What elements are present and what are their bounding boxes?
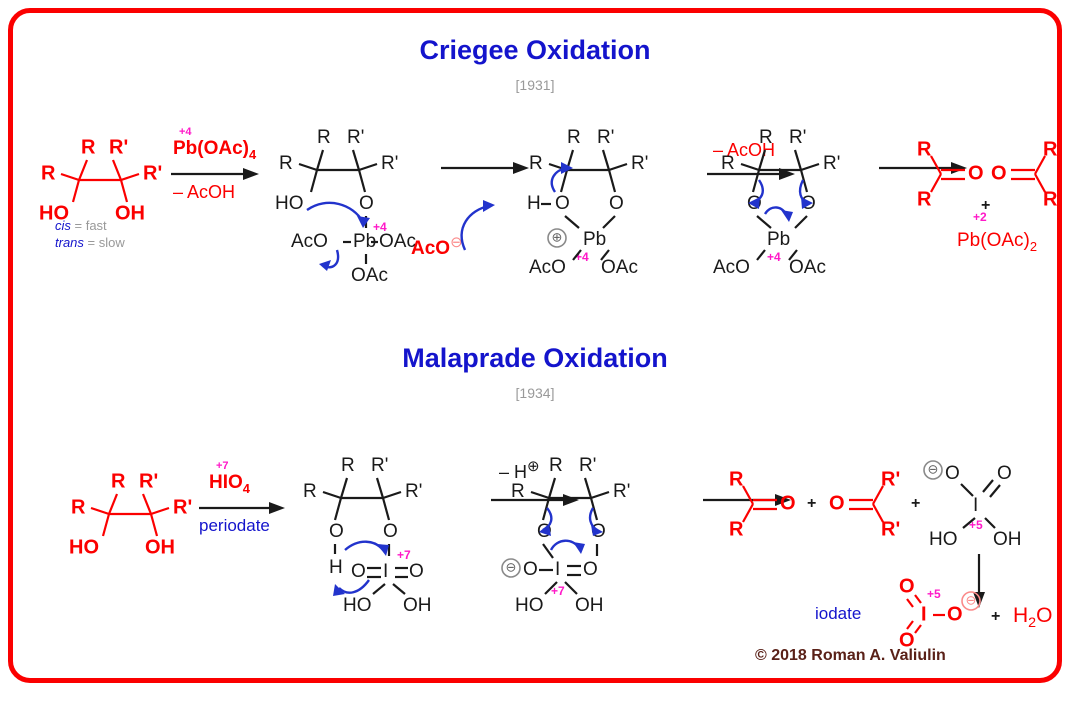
label-O: O — [359, 193, 374, 214]
metal-Pb: Pb — [767, 229, 790, 250]
ligand-O: O — [899, 575, 915, 597]
label-R: R — [721, 153, 735, 174]
note-value: = slow — [88, 235, 125, 250]
ligand-O: O — [997, 463, 1012, 484]
ligand-AcO: AcO — [713, 257, 750, 278]
ligand-OAc: OAc — [601, 257, 638, 278]
label-O: O — [780, 492, 796, 514]
criegee-reagent-label: Pb(OAc)4 — [173, 138, 256, 162]
malaprade-scheme-row: R R R' R' HO OH +7 HIO4 periodate R R R' — [13, 418, 1057, 668]
label-Rp: R' — [143, 162, 162, 184]
note-term: cis — [55, 218, 71, 233]
ligand-AcO: AcO — [529, 257, 566, 278]
label-Rp: R' — [371, 455, 388, 476]
label-R: R — [71, 496, 86, 518]
note-term: trans — [55, 235, 84, 250]
criegee-byproduct: Pb(OAc)2 — [957, 230, 1037, 254]
label-O: O — [991, 162, 1007, 184]
criegee-year: [1931] — [13, 77, 1057, 93]
label-R: R — [341, 455, 355, 476]
label-Rp: R' — [109, 136, 128, 158]
malaprade-intermediate-2: R R R' R' O O H I +7 O O HO OH — [285, 446, 485, 626]
plus-sign: + — [991, 608, 1000, 625]
positive-charge: ⊕ — [552, 229, 563, 244]
electron-flow-arrow — [443, 202, 513, 252]
criegee-reagent-oxidation-state: +4 — [179, 126, 192, 138]
label-H: H — [527, 193, 541, 214]
malaprade-reagent-label: HIO4 — [209, 472, 250, 496]
malaprade-year: [1934] — [13, 385, 1057, 401]
label-H: H — [329, 557, 343, 578]
label-O: O — [555, 193, 570, 214]
reaction-arrow — [171, 166, 261, 182]
criegee-starting-diol: R R R' R' HO OH — [31, 122, 191, 232]
note-value: = fast — [75, 218, 107, 233]
ligand-OH: OH — [575, 595, 604, 616]
ligand-O: O — [409, 561, 424, 582]
oxidation-state: +4 — [767, 250, 781, 264]
criegee-note-trans: trans = slow — [55, 235, 125, 250]
ligand-OH: OH — [403, 595, 432, 616]
label-R: R — [759, 127, 773, 148]
label-Rp: R' — [173, 496, 192, 518]
plus-sign: + — [911, 495, 920, 512]
malaprade-iodine-species: ⊖ O O I +5 HO OH — [921, 448, 1061, 558]
ligand-HO: HO — [929, 529, 958, 550]
ligand-HO: HO — [343, 595, 372, 616]
ligand-AcO: AcO — [291, 231, 328, 252]
criegee-intermediate-4: R R R' R' O O Pb +4 AcO OAc — [703, 118, 893, 278]
malaprade-products: R R O + O R' R' + — [725, 452, 925, 562]
diagram-frame: Criegee Oxidation [1931] R R R' R' HO OH… — [8, 8, 1062, 683]
label-OH: OH — [115, 202, 145, 224]
label-HO: HO — [69, 536, 99, 558]
criegee-scheme-row: R R R' R' HO OH cis = fast trans = slow … — [13, 108, 1057, 303]
label-R: R — [567, 127, 581, 148]
criegee-note-cis: cis = fast — [55, 218, 107, 233]
ligand-O: O — [351, 561, 366, 582]
label-R: R — [729, 518, 744, 540]
ligand-O: O — [945, 463, 960, 484]
malaprade-reagent-oxidation-state: +7 — [216, 460, 229, 472]
label-R: R — [303, 481, 317, 502]
label-Rp: R' — [1043, 188, 1062, 210]
oxidation-state: +2 — [973, 210, 987, 224]
water-product: H2O — [1013, 604, 1052, 631]
label-OH: OH — [145, 536, 175, 558]
center-I: I — [555, 559, 560, 580]
label-R: R — [41, 162, 56, 184]
ligand-O: O — [947, 603, 963, 625]
malaprade-title: Malaprade Oxidation — [13, 343, 1057, 374]
label-R: R — [317, 127, 331, 148]
ligand-O: O — [523, 559, 538, 580]
iodate-label: iodate — [815, 604, 861, 624]
center-I: I — [973, 495, 978, 516]
plus-sign: + — [807, 495, 816, 512]
negative-charge: ⊖ — [928, 461, 939, 476]
label-Rp: R' — [881, 468, 900, 490]
label-R: R — [529, 153, 543, 174]
negative-charge: ⊖ — [506, 559, 517, 574]
label-R: R — [279, 153, 293, 174]
label-R: R — [917, 138, 932, 160]
criegee-intermediate-3: R R R' R' H O O Pb ⊕ +4 AcO OAc — [511, 118, 701, 278]
ligand-O: O — [583, 559, 598, 580]
malaprade-arrow-sub-label: periodate — [199, 516, 270, 536]
ligand-OAc: OAc — [351, 265, 388, 286]
label-R: R — [549, 455, 563, 476]
label-R: R — [511, 481, 525, 502]
metal-Pb: Pb — [583, 229, 606, 250]
label-Rp: R' — [579, 455, 596, 476]
label-R: R — [917, 188, 932, 210]
label-Rp: R' — [139, 470, 158, 492]
ligand-OH: OH — [993, 529, 1022, 550]
label-O: O — [968, 162, 984, 184]
ligand-HO: HO — [515, 595, 544, 616]
label-R: R — [81, 136, 96, 158]
label-Rp: R' — [631, 153, 648, 174]
label-Rp: R' — [789, 127, 806, 148]
label-Rp: R' — [405, 481, 422, 502]
copyright-notice: © 2018 Roman A. Valiulin — [755, 647, 946, 665]
center-I: I — [383, 561, 388, 582]
criegee-arrow-sub-label: – AcOH — [173, 182, 235, 203]
label-R: R — [111, 470, 126, 492]
label-O: O — [383, 521, 398, 542]
negative-charge: ⊖ — [966, 592, 977, 607]
label-HO: HO — [275, 193, 304, 214]
label-Rp: R' — [881, 518, 900, 540]
label-Rp: R' — [381, 153, 398, 174]
label-R: R — [729, 468, 744, 490]
malaprade-intermediate-3: R R R' R' O O ⊖ O I O +7 HO OH — [493, 446, 703, 626]
label-O: O — [329, 521, 344, 542]
ligand-OAc: OAc — [789, 257, 826, 278]
label-Rp: R' — [1043, 138, 1062, 160]
oxidation-state: +5 — [927, 587, 941, 601]
label-Rp: R' — [823, 153, 840, 174]
label-Rp: R' — [347, 127, 364, 148]
oxidation-state: +4 — [575, 250, 589, 264]
criegee-title: Criegee Oxidation — [13, 35, 1057, 66]
reaction-arrow — [199, 500, 287, 516]
label-O: O — [609, 193, 624, 214]
center-I: I — [921, 603, 927, 625]
label-O: O — [829, 492, 845, 514]
label-Rp: R' — [613, 481, 630, 502]
malaprade-starting-diol: R R R' R' HO OH — [61, 456, 221, 566]
label-Rp: R' — [597, 127, 614, 148]
